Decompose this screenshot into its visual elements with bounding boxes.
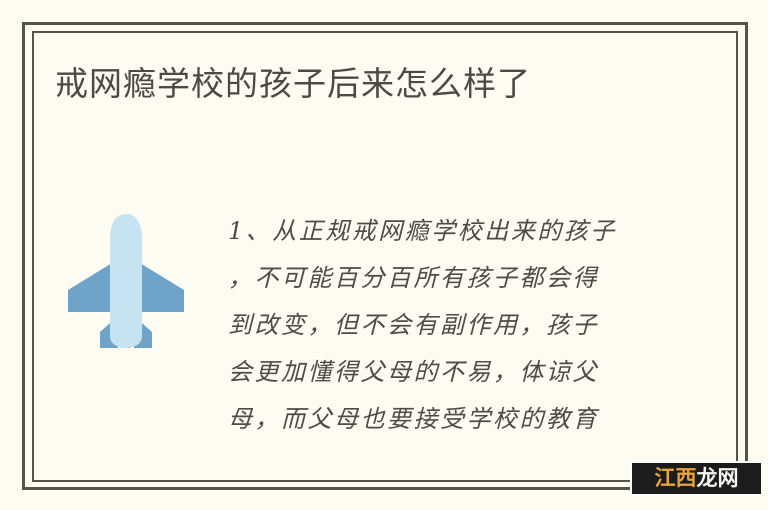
body-line: 1、从正规戒网瘾学校出来的孩子: [228, 208, 676, 255]
watermark-text-secondary: 龙网: [697, 468, 739, 489]
site-watermark: 江西龙网: [630, 461, 763, 496]
body-line: 母，而父母也要接受学校的教育: [228, 396, 676, 443]
article-body: 1、从正规戒网瘾学校出来的孩子 ，不可能百分百所有孩子都会得 到改变，但不会有副…: [228, 208, 676, 443]
airplane-icon: [62, 212, 190, 348]
page-title: 戒网瘾学校的孩子后来怎么样了: [55, 62, 531, 106]
article-card-page: 戒网瘾学校的孩子后来怎么样了 1、从正规戒网瘾学校出来的孩子 ，不可能百分百所有…: [0, 0, 768, 510]
body-line: 到改变，但不会有副作用，孩子: [228, 302, 676, 349]
body-line: ，不可能百分百所有孩子都会得: [228, 255, 676, 302]
airplane-illustration: [62, 212, 190, 348]
watermark-text-primary: 江西: [655, 468, 697, 489]
body-line: 会更加懂得父母的不易，体谅父: [228, 349, 676, 396]
